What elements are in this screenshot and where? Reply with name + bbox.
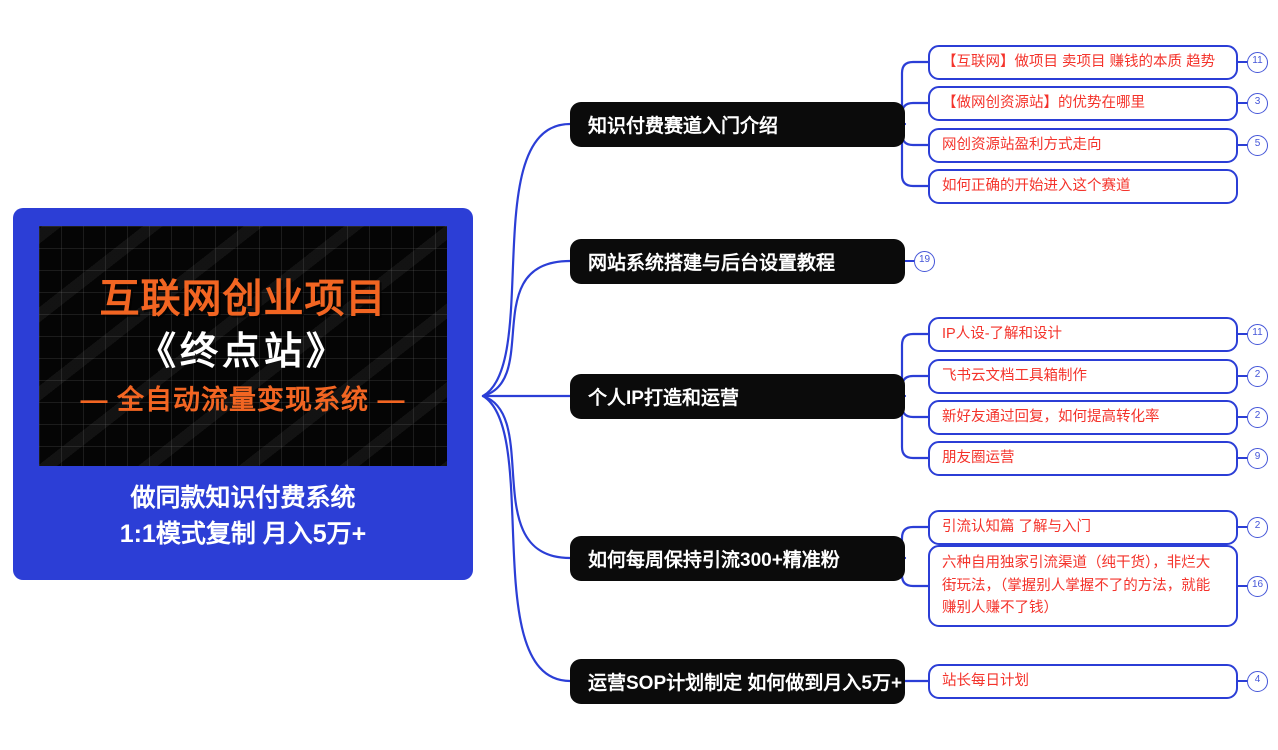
leaf-node[interactable]: 【互联网】做项目 卖项目 赚钱的本质 趋势 — [928, 45, 1238, 80]
leaf-node-label: 【做网创资源站】的优势在哪里 — [942, 92, 1145, 114]
leaf-node[interactable]: 网创资源站盈利方式走向 — [928, 128, 1238, 163]
leaf-count-badge: 2 — [1247, 517, 1268, 538]
leaf-node[interactable]: 站长每日计划 — [928, 664, 1238, 699]
poster-title-line3: — 全自动流量变现系统 — — [80, 387, 405, 414]
leaf-node[interactable]: 朋友圈运营 — [928, 441, 1238, 476]
branch-node-label: 个人IP打造和运营 — [588, 383, 739, 410]
poster-title-line2: 《终点站》 — [138, 333, 348, 371]
leaf-count-badge: 3 — [1247, 93, 1268, 114]
leaf-count-badge: 16 — [1247, 576, 1268, 597]
root-subtitle: 做同款知识付费系统 1:1模式复制 月入5万+ — [120, 480, 367, 553]
leaf-node-label: IP人设-了解和设计 — [942, 323, 1062, 345]
leaf-node-label: 站长每日计划 — [942, 670, 1029, 692]
leaf-count-badge: 5 — [1247, 135, 1268, 156]
leaf-count-badge: 4 — [1247, 671, 1268, 692]
root-subtitle-line2: 1:1模式复制 月入5万+ — [120, 516, 367, 552]
leaf-count-badge: 9 — [1247, 448, 1268, 469]
branch-node[interactable]: 个人IP打造和运营 — [570, 374, 905, 419]
leaf-node[interactable]: 【做网创资源站】的优势在哪里 — [928, 86, 1238, 121]
branch-node-label: 网站系统搭建与后台设置教程 — [588, 248, 835, 275]
leaf-node[interactable]: 新好友通过回复，如何提高转化率 — [928, 400, 1238, 435]
poster-title-line1: 互联网创业项目 — [100, 279, 387, 319]
leaf-node[interactable]: 六种自用独家引流渠道（纯干货），非烂大街玩法，（掌握别人掌握不了的方法，就能赚别… — [928, 545, 1238, 627]
branch-node-label: 知识付费赛道入门介绍 — [588, 111, 778, 138]
branch-count-badge: 19 — [914, 251, 935, 272]
leaf-node-label: 朋友圈运营 — [942, 447, 1015, 469]
leaf-count-badge: 11 — [1247, 52, 1268, 73]
branch-node-label: 如何每周保持引流300+精准粉 — [588, 545, 840, 572]
root-poster-image: 互联网创业项目 《终点站》 — 全自动流量变现系统 — — [39, 226, 447, 466]
leaf-node[interactable]: 飞书云文档工具箱制作 — [928, 359, 1238, 394]
branch-node[interactable]: 网站系统搭建与后台设置教程 — [570, 239, 905, 284]
branch-node[interactable]: 如何每周保持引流300+精准粉 — [570, 536, 905, 581]
branch-node[interactable]: 运营SOP计划制定 如何做到月入5万+ — [570, 659, 905, 704]
leaf-node-label: 六种自用独家引流渠道（纯干货），非烂大街玩法，（掌握别人掌握不了的方法，就能赚别… — [942, 552, 1224, 619]
leaf-node-label: 新好友通过回复，如何提高转化率 — [942, 406, 1160, 428]
leaf-node-label: 网创资源站盈利方式走向 — [942, 134, 1102, 156]
leaf-node-label: 引流认知篇 了解与入门 — [942, 516, 1091, 538]
leaf-count-badge: 11 — [1247, 324, 1268, 345]
leaf-node-label: 飞书云文档工具箱制作 — [942, 365, 1087, 387]
branch-node[interactable]: 知识付费赛道入门介绍 — [570, 102, 905, 147]
leaf-count-badge: 2 — [1247, 407, 1268, 428]
mindmap-canvas: 互联网创业项目 《终点站》 — 全自动流量变现系统 — 做同款知识付费系统 1:… — [0, 0, 1278, 750]
leaf-node-label: 【互联网】做项目 卖项目 赚钱的本质 趋势 — [942, 51, 1215, 73]
leaf-node-label: 如何正确的开始进入这个赛道 — [942, 175, 1131, 197]
leaf-node[interactable]: 如何正确的开始进入这个赛道 — [928, 169, 1238, 204]
leaf-node[interactable]: IP人设-了解和设计 — [928, 317, 1238, 352]
branch-node-label: 运营SOP计划制定 如何做到月入5万+ — [588, 668, 902, 695]
root-subtitle-line1: 做同款知识付费系统 — [120, 480, 367, 516]
root-node[interactable]: 互联网创业项目 《终点站》 — 全自动流量变现系统 — 做同款知识付费系统 1:… — [13, 208, 473, 580]
leaf-count-badge: 2 — [1247, 366, 1268, 387]
leaf-node[interactable]: 引流认知篇 了解与入门 — [928, 510, 1238, 545]
